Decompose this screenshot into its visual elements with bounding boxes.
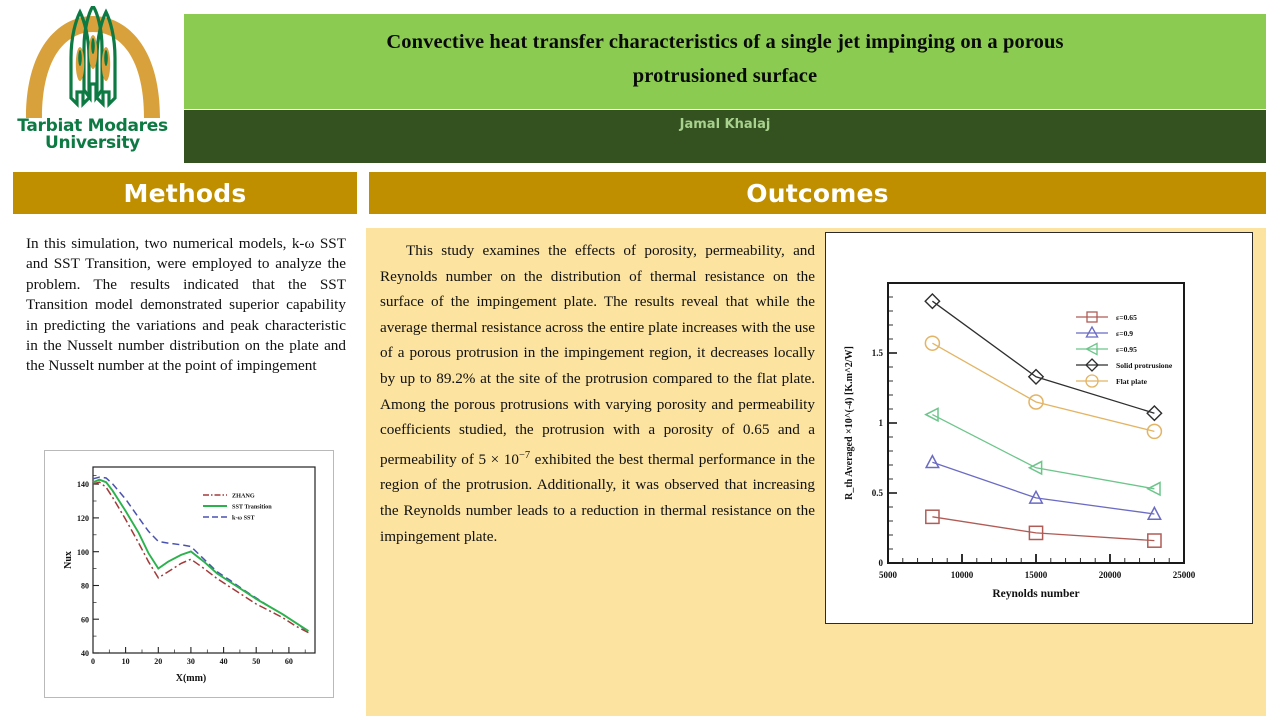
logo-mark	[18, 6, 168, 121]
outcomes-body-exponent: −7	[519, 450, 530, 461]
outcomes-body-part1: This study examines the effects of poros…	[380, 242, 815, 468]
svg-text:100: 100	[77, 548, 89, 557]
svg-text:60: 60	[285, 657, 293, 666]
poster-title-line1: Convective heat transfer characteristics…	[386, 31, 1063, 53]
outcomes-chart-ylabel: R_th Averaged ×10^(-4) [K.m^2/W]	[844, 346, 855, 500]
legend-label-eps-065: ε=0.65	[1116, 313, 1137, 322]
university-logo: Tarbiat Modares University	[0, 0, 180, 163]
title-banner: Convective heat transfer characteristics…	[184, 14, 1266, 109]
legend-label-kw-sst: k-ω SST	[232, 515, 255, 522]
section-header-methods-label: Methods	[124, 179, 247, 208]
outcomes-body-text: This study examines the effects of poros…	[380, 238, 815, 549]
svg-text:10000: 10000	[951, 570, 974, 580]
methods-chart-ylabel: Nux	[63, 551, 74, 569]
outcomes-chart-xlabel: Reynolds number	[992, 588, 1079, 600]
legend-label-eps-09: ε=0.9	[1116, 329, 1133, 338]
svg-text:15000: 15000	[1025, 570, 1048, 580]
logo-wordmark-line2: University	[10, 135, 175, 152]
svg-text:140: 140	[77, 480, 89, 489]
svg-text:5000: 5000	[879, 570, 898, 580]
legend-label-zhang: ZHANG	[232, 493, 255, 500]
methods-column: In this simulation, two numerical models…	[13, 228, 357, 708]
svg-text:20: 20	[154, 657, 162, 666]
svg-text:50: 50	[252, 657, 260, 666]
svg-text:25000: 25000	[1173, 570, 1196, 580]
svg-text:0.5: 0.5	[872, 488, 884, 498]
section-header-outcomes: Outcomes	[369, 172, 1266, 214]
svg-text:10: 10	[122, 657, 130, 666]
legend-label-eps-095: ε=0.95	[1116, 345, 1137, 354]
outcomes-panel: This study examines the effects of poros…	[366, 228, 1266, 716]
outcomes-figure: 0 0.5 1 1.5	[825, 232, 1253, 624]
svg-text:30: 30	[187, 657, 195, 666]
svg-text:40: 40	[220, 657, 228, 666]
poster-canvas: Tarbiat Modares University Convective he…	[0, 0, 1280, 720]
svg-text:1.5: 1.5	[872, 348, 884, 358]
svg-text:0: 0	[879, 558, 884, 568]
svg-text:20000: 20000	[1099, 570, 1122, 580]
author-banner: Jamal Khalaj	[184, 110, 1266, 163]
svg-text:60: 60	[81, 615, 89, 624]
svg-text:80: 80	[81, 582, 89, 591]
legend-label-flat-plate: Flat plate	[1116, 377, 1148, 386]
svg-text:0: 0	[91, 657, 95, 666]
legend-label-solid-protrusione: Solid protrusione	[1116, 361, 1173, 370]
section-header-outcomes-label: Outcomes	[746, 179, 888, 208]
outcomes-chart: 0 0.5 1 1.5	[826, 233, 1251, 622]
poster-title-line2: protrusioned surface	[633, 65, 817, 87]
poster-title: Convective heat transfer characteristics…	[386, 25, 1063, 93]
legend-label-sst-transition: SST Transition	[232, 504, 272, 511]
section-header-methods: Methods	[13, 172, 357, 214]
svg-text:1: 1	[879, 418, 884, 428]
methods-figure: 40 60 80 100 120 140	[44, 450, 334, 698]
methods-chart-xlabel: X(mm)	[176, 673, 207, 684]
logo-wordmark: Tarbiat Modares University	[10, 118, 175, 152]
author-name: Jamal Khalaj	[680, 117, 771, 132]
svg-text:120: 120	[77, 514, 89, 523]
methods-chart: 40 60 80 100 120 140	[45, 451, 333, 697]
methods-body-text: In this simulation, two numerical models…	[26, 234, 346, 377]
svg-text:40: 40	[81, 649, 89, 658]
